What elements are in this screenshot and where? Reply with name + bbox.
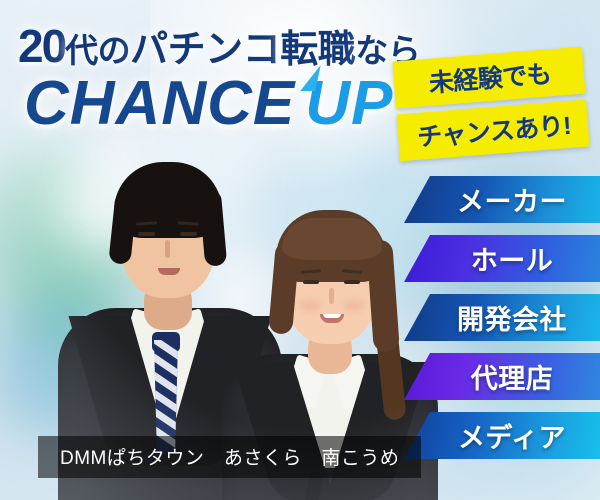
category-label: ホール <box>455 239 554 278</box>
wordmark-chance-up: CHANCEUP <box>24 68 393 139</box>
male-eye-right <box>180 232 197 236</box>
female-nose <box>329 288 334 304</box>
female-eye-left <box>303 280 319 284</box>
female-teeth <box>323 314 341 318</box>
male-mouth <box>158 268 180 275</box>
wordmark-up: UP <box>305 69 393 138</box>
female-blush-left <box>300 300 320 311</box>
category-button-hall[interactable]: ホール <box>404 235 600 282</box>
category-button-maker[interactable]: メーカー <box>404 176 600 223</box>
headline-number: 20 <box>18 20 65 72</box>
headline: 20代のパチンコ転職なら <box>18 18 438 73</box>
headline-katakana: パチンコ <box>130 29 280 71</box>
male-hair-fringe <box>120 170 218 210</box>
wordmark-up-text: UP <box>305 69 393 138</box>
category-button-agency[interactable]: 代理店 <box>404 353 600 400</box>
category-button-media[interactable]: メディア <box>404 412 600 459</box>
category-label: メーカー <box>441 180 567 219</box>
category-label: メディア <box>442 416 566 455</box>
male-nose <box>165 240 170 258</box>
headline-mid: 代の <box>65 32 130 69</box>
female-hair-fringe <box>282 218 382 260</box>
caption-bar: DMMぱちタウン あさくら 南こうめ <box>38 436 421 478</box>
wordmark-chance: CHANCE <box>24 69 295 138</box>
category-label: 開発会社 <box>441 298 567 337</box>
advertisement-banner[interactable]: 20代のパチンコ転職なら CHANCEUP 未経験でも チャンスあり! メーカー… <box>0 0 600 500</box>
promo-badge: 未経験でも チャンスあり! <box>392 47 589 162</box>
male-eye-left <box>138 232 155 236</box>
female-blush-right <box>344 300 364 311</box>
female-eye-right <box>344 280 360 284</box>
category-label: 代理店 <box>455 357 554 396</box>
category-button-development-company[interactable]: 開発会社 <box>404 294 600 341</box>
category-list: メーカー ホール 開発会社 代理店 メディア <box>404 176 600 471</box>
